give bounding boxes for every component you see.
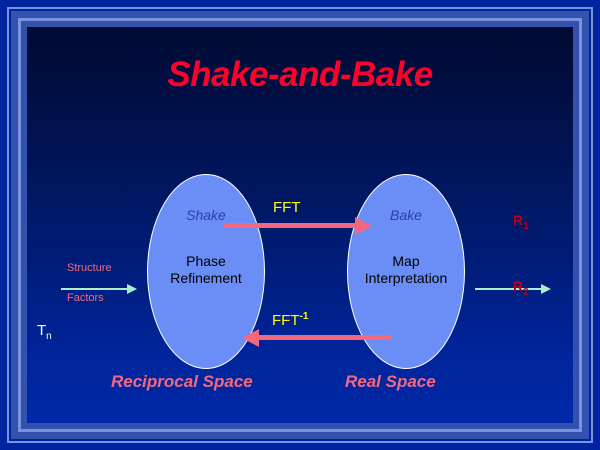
node-bake-body: Map Interpretation — [348, 253, 464, 287]
fft-forward-label: FFT — [273, 199, 301, 216]
node-shake-heading: Shake — [148, 207, 264, 223]
iteration-label-subscript: n — [46, 331, 52, 342]
output-label-r1: R1 — [513, 212, 529, 232]
fft-inverse-label-superscript: -1 — [300, 311, 309, 322]
fft-inverse-arrow-head-icon — [242, 329, 259, 347]
fft-inverse-arrow-shaft — [259, 335, 391, 340]
iteration-label: Tn — [37, 322, 52, 342]
output-label-r1-base: R — [513, 212, 523, 228]
output-label-r2: R2 — [513, 278, 529, 298]
node-shake-body-line2: Refinement — [148, 270, 264, 287]
input-label-factors: Factors — [67, 292, 104, 304]
presentation-slide: Shake-and-Bake Shake Phase Refinement Ba… — [0, 0, 600, 450]
node-shake-body-line1: Phase — [148, 253, 264, 270]
output-label-r2-subscript: 2 — [523, 287, 529, 298]
node-shake-body: Phase Refinement — [148, 253, 264, 287]
input-label-structure: Structure — [67, 262, 112, 274]
output-arrow-shaft — [475, 288, 543, 290]
output-arrow-head-icon — [541, 284, 551, 294]
slide-content-area: Shake-and-Bake Shake Phase Refinement Ba… — [27, 27, 573, 423]
slide-title: Shake-and-Bake — [27, 55, 573, 95]
caption-reciprocal-space: Reciprocal Space — [111, 372, 253, 392]
output-label-r2-base: R — [513, 278, 523, 294]
caption-real-space: Real Space — [345, 372, 436, 392]
fft-inverse-label: FFT-1 — [272, 311, 308, 329]
fft-forward-arrow-head-icon — [355, 217, 372, 235]
input-arrow-head-icon — [127, 284, 137, 294]
node-bake-body-line2: Interpretation — [348, 270, 464, 287]
fft-forward-arrow-shaft — [223, 223, 359, 228]
input-arrow-shaft — [61, 288, 129, 290]
fft-inverse-label-base: FFT — [272, 312, 300, 329]
iteration-label-base: T — [37, 322, 46, 339]
node-bake-body-line1: Map — [348, 253, 464, 270]
output-label-r1-subscript: 1 — [523, 221, 529, 232]
